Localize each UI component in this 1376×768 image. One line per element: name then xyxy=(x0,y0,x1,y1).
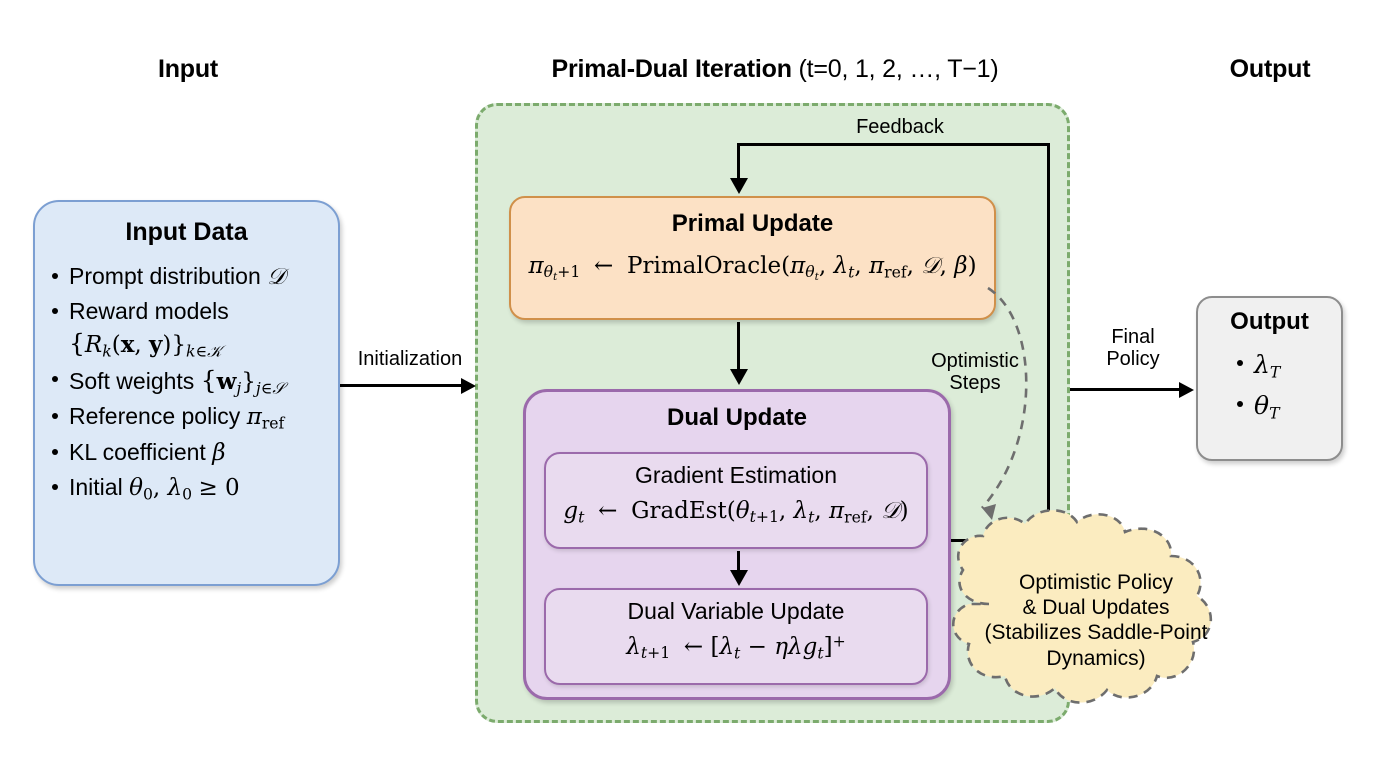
gradient-estimation-formula: gt ← GradEst(θt+1, λt, πref, 𝒟) xyxy=(546,497,926,524)
cloud-line-3: (Stabilizes Saddle-Point xyxy=(946,620,1246,645)
cloud-line-2: & Dual Updates xyxy=(946,595,1246,620)
output-box: Output λT θT xyxy=(1196,296,1343,461)
list-item: Soft weights {wj}j∈𝒮 xyxy=(47,364,328,397)
primal-update-box: Primal Update πθt+1 ← PrimalOracle(πθt, … xyxy=(509,196,996,320)
list-item: Reward models {Rk(x, y)}k∈𝒦 xyxy=(47,296,328,360)
dual-update-title: Dual Update xyxy=(526,404,948,432)
dual-variable-update-formula: λt+1 ← [λt − ηλgt]+ xyxy=(546,633,926,660)
list-item: Reference policy πref xyxy=(47,401,328,432)
header-output: Output xyxy=(1165,55,1375,84)
gradient-estimation-title: Gradient Estimation xyxy=(546,462,926,489)
input-data-title: Input Data xyxy=(35,218,338,247)
edge-label-feedback: Feedback xyxy=(820,116,980,138)
header-primal-dual-range: (t=0, 1, 2, …, T−1) xyxy=(792,55,999,83)
output-bullet-list: λT θT xyxy=(1232,348,1341,422)
input-data-box: Input Data Prompt distribution 𝒟 Reward … xyxy=(33,200,340,586)
final-policy-line2: Policy xyxy=(1106,348,1159,370)
header-input: Input xyxy=(88,55,288,84)
initialization-arrow-line xyxy=(340,384,462,387)
list-item: Prompt distribution 𝒟 xyxy=(47,261,328,292)
cloud-callout-text: Optimistic Policy & Dual Updates (Stabil… xyxy=(946,570,1246,671)
cloud-line-4: Dynamics) xyxy=(946,646,1246,671)
list-item: λT xyxy=(1232,348,1341,381)
primal-update-formula: πθt+1 ← PrimalOracle(πθt, λt, πref, 𝒟, β… xyxy=(511,252,994,279)
header-primal-dual-iteration: Primal-Dual Iteration (t=0, 1, 2, …, T−1… xyxy=(425,55,1125,84)
final-policy-line1: Final xyxy=(1111,326,1154,348)
primal-to-dual-line xyxy=(737,322,740,370)
feedback-down-segment xyxy=(737,143,740,179)
optimistic-steps-dashed-arrow xyxy=(960,280,1090,550)
primal-to-dual-arrowhead-icon xyxy=(730,369,748,385)
cloud-line-1: Optimistic Policy xyxy=(946,570,1246,595)
edge-label-final-policy: Final Policy xyxy=(1078,326,1188,371)
diagram-canvas: Input Primal-Dual Iteration (t=0, 1, 2, … xyxy=(0,0,1376,768)
feedback-top-segment xyxy=(738,143,1050,146)
final-policy-arrowhead-icon xyxy=(1179,382,1194,398)
dual-variable-update-title: Dual Variable Update xyxy=(546,598,926,625)
gradient-estimation-box: Gradient Estimation gt ← GradEst(θt+1, λ… xyxy=(544,452,928,549)
gradient-to-dual-variable-arrowhead-icon xyxy=(730,570,748,586)
list-item: Initial θ0, λ0 ≥ 0 xyxy=(47,472,328,503)
dual-variable-update-box: Dual Variable Update λt+1 ← [λt − ηλgt]+ xyxy=(544,588,928,685)
feedback-arrowhead-icon xyxy=(730,178,748,194)
edge-label-initialization: Initialization xyxy=(345,348,475,370)
primal-update-title: Primal Update xyxy=(511,210,994,238)
header-primal-dual-bold: Primal-Dual Iteration xyxy=(551,55,791,83)
list-item: KL coefficient β xyxy=(47,437,328,468)
final-policy-arrow-line xyxy=(1070,388,1180,391)
initialization-arrowhead-icon xyxy=(461,378,476,394)
output-title: Output xyxy=(1198,308,1341,336)
input-data-bullet-list: Prompt distribution 𝒟 Reward models {Rk(… xyxy=(47,261,328,504)
list-item: θT xyxy=(1232,389,1341,422)
